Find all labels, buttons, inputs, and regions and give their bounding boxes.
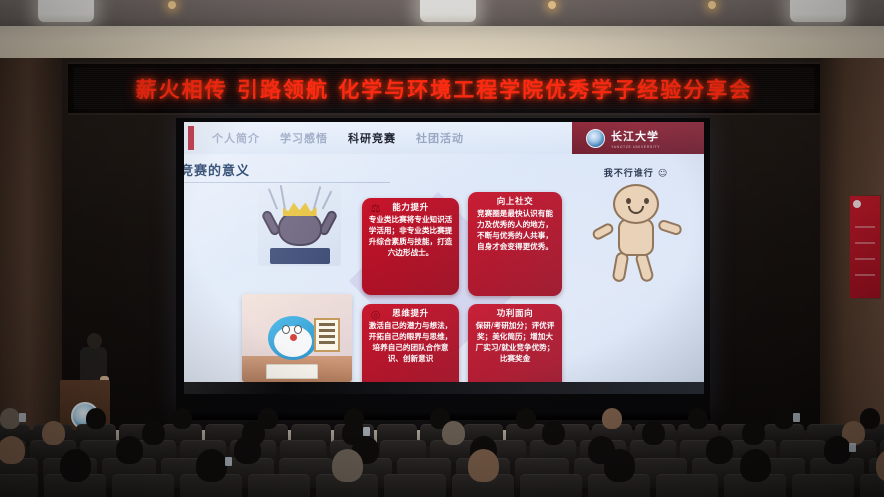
audience-member (542, 421, 565, 445)
poster-seal-icon (853, 200, 861, 208)
audience-phone-screen (363, 427, 370, 436)
audience-member (0, 408, 20, 429)
left-wall-panel (0, 58, 62, 438)
audience-phone-screen (225, 457, 232, 466)
audience-member (774, 408, 794, 429)
audience-member (234, 436, 261, 464)
ceiling-downlight (168, 1, 176, 9)
presentation-slide: 个人简介 学习感悟 科研竞赛 社团活动 长江大学 YANGTZE UNIVERS… (184, 122, 704, 394)
audience-seat (520, 474, 582, 497)
audience-member (516, 408, 536, 429)
benefit-box-heading: 向上社交 (474, 197, 556, 207)
slide-tabs: 个人简介 学习感悟 科研竞赛 社团活动 (212, 130, 464, 146)
audience-seat (0, 474, 38, 497)
benefit-box-practical[interactable]: 功利面向 保研/考研加分；评优评奖；美化简历；增加大厂实习/就业竞争优势；比赛奖… (468, 304, 562, 394)
audience-member (42, 421, 65, 445)
title-underline (184, 182, 390, 183)
upper-wall-band (0, 26, 884, 62)
audience-member (60, 449, 91, 482)
mascot-annotation: 我不行谁行 ☺ (584, 166, 688, 179)
projection-screen: 个人简介 学习感悟 科研竞赛 社团活动 长江大学 YANGTZE UNIVERS… (176, 118, 710, 414)
audience-member (688, 408, 708, 429)
audience-phone-screen (793, 413, 800, 422)
audience-seat (248, 474, 310, 497)
led-banner: 薪火相传 引路领航 化学与环境工程学院优秀学子经验分享会 (68, 62, 820, 115)
ceiling (0, 0, 884, 28)
audience-member (602, 408, 622, 429)
audience-member (172, 408, 192, 429)
benefit-box-body: 竞赛圈是最快认识有能力及优秀的人的地方，不断与优秀的人共事，自身才会变得更优秀。 (474, 209, 556, 252)
benefit-box-heading: 功利面向 (474, 309, 556, 319)
slide-bottom-edge (184, 382, 704, 394)
lecture-hall-scene: 薪火相传 引路领航 化学与环境工程学院优秀学子经验分享会 个人简介 学习感悟 科… (0, 0, 884, 497)
benefit-box-body: 保研/考研加分；评优评奖；美化简历；增加大厂实习/就业竞争优势；比赛奖金 (474, 321, 556, 364)
university-logo-band: 长江大学 YANGTZE UNIVERSITY (572, 122, 704, 154)
audience-member (116, 436, 143, 464)
audience-member (86, 408, 106, 429)
audience-member (142, 421, 165, 445)
ceiling-downlight (548, 1, 556, 9)
audience-member (742, 421, 765, 445)
audience-seat (792, 474, 854, 497)
ceiling-light-panel (790, 0, 846, 22)
university-name: 长江大学 (611, 130, 659, 143)
trophy-icon: ⚖ (369, 203, 382, 216)
audience-phone-screen (19, 413, 26, 422)
tab-club-activities[interactable]: 社团活动 (416, 130, 464, 146)
audience-member (196, 449, 227, 482)
audience-member (468, 449, 499, 482)
benefit-box-social[interactable]: 向上社交 竞赛圈是最快认识有能力及优秀的人的地方，不断与优秀的人共事，自身才会变… (468, 192, 562, 296)
slide-navigation-bar: 个人简介 学习感悟 科研竞赛 社团活动 长江大学 YANGTZE UNIVERS… (184, 122, 704, 154)
led-banner-text: 薪火相传 引路领航 化学与环境工程学院优秀学子经验分享会 (136, 74, 753, 104)
audience-member (0, 436, 25, 464)
crown-celebration-illustration (258, 184, 341, 266)
nav-accent-bar (188, 126, 194, 150)
crown-icon (283, 201, 317, 216)
ceiling-downlight (708, 1, 716, 9)
audience-member (706, 436, 733, 464)
audience-member (332, 449, 363, 482)
side-poster (849, 195, 881, 299)
benefit-box-body: 专业类比赛将专业知识活学活用；非专业类比赛提升综合素质与技能，打造六边形战士。 (368, 215, 453, 258)
audience-member (604, 449, 635, 482)
mascot-figure (588, 182, 684, 286)
tab-study-insights[interactable]: 学习感悟 (280, 130, 328, 146)
benefit-box-ability[interactable]: ⚖ 能力提升 专业类比赛将专业知识活学活用；非专业类比赛提升综合素质与技能，打造… (362, 198, 459, 295)
audience-member (442, 421, 465, 445)
university-seal-icon (586, 129, 605, 148)
audience-member (824, 436, 851, 464)
doraemon-studying-illustration (242, 294, 352, 382)
audience-member (740, 449, 771, 482)
target-icon: ◎ (369, 309, 382, 322)
university-name-english: YANGTZE UNIVERSITY (611, 145, 660, 149)
audience-seat (656, 474, 718, 497)
ceiling-light-panel (38, 0, 94, 22)
benefit-box-body: 激活自己的潜力与想法，开拓自己的眼界与思维，培养自己的团队合作意识、创新意识 (368, 321, 453, 364)
audience-member (642, 421, 665, 445)
audience-seat (384, 474, 446, 497)
benefit-box-thinking[interactable]: ◎ 思维提升 激活自己的潜力与想法，开拓自己的眼界与思维，培养自己的团队合作意识… (362, 304, 459, 394)
led-banner-screen: 薪火相传 引路领航 化学与环境工程学院优秀学子经验分享会 (74, 68, 814, 109)
tab-research-contest[interactable]: 科研竞赛 (348, 130, 396, 146)
tab-personal-profile[interactable]: 个人简介 (212, 130, 260, 146)
speaker-head (87, 333, 102, 349)
audience-seat (112, 474, 174, 497)
ceiling-light-panel (420, 0, 476, 22)
audience-phone-screen (849, 443, 856, 452)
